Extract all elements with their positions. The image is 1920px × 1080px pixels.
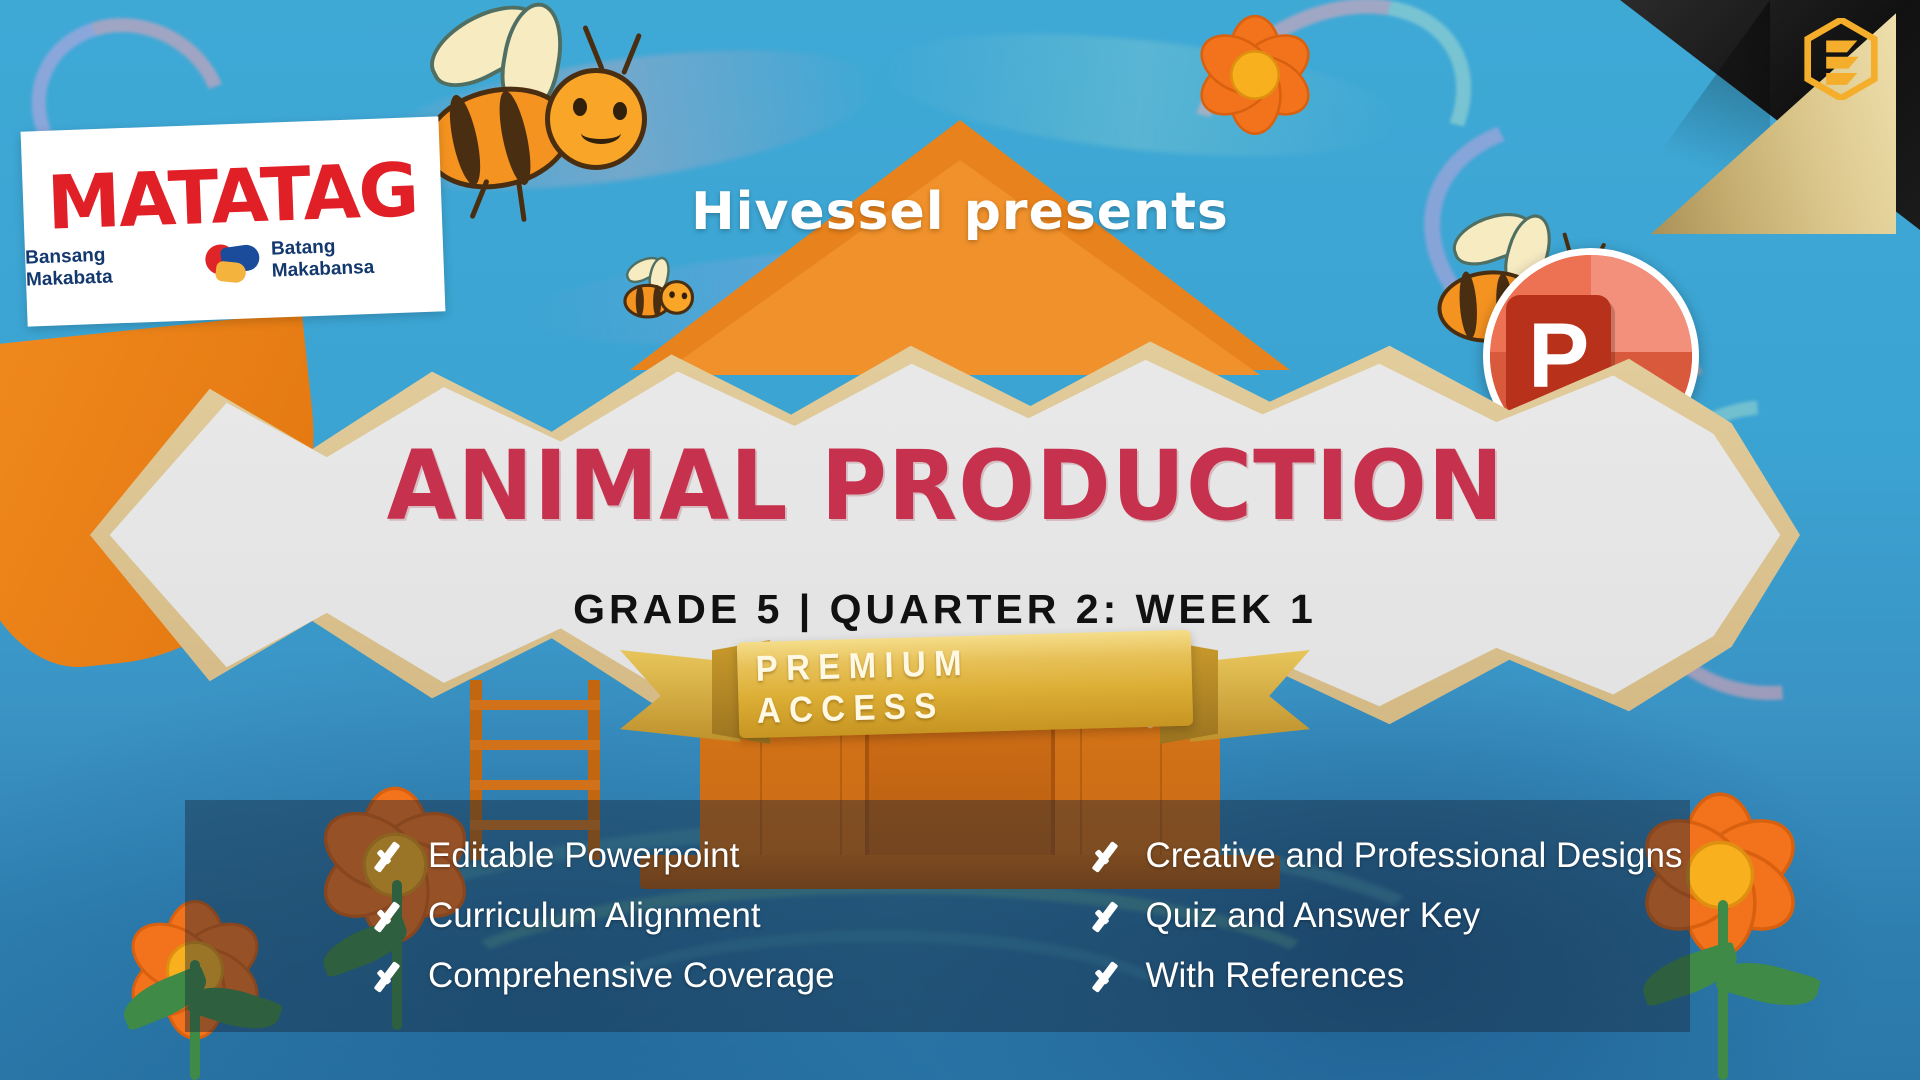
slide-canvas: MATATAG Bansang Makabata Batang Makabans… [0, 0, 1920, 1080]
clasped-hands-icon [203, 240, 266, 282]
ribbon-label: PREMIUM ACCESS [755, 636, 1175, 732]
feature-label: Quiz and Answer Key [1146, 896, 1481, 936]
presents-text: Hivessel presents [0, 182, 1920, 242]
bee-icon [415, 10, 645, 210]
feature-item: Creative and Professional Designs [1088, 834, 1691, 878]
feature-item: Comprehensive Coverage [370, 954, 973, 998]
feature-label: With References [1146, 956, 1405, 996]
feature-item: Editable Powerpoint [370, 834, 973, 878]
features-right-column: Creative and Professional Designs Quiz a… [973, 800, 1691, 1032]
check-icon [1088, 894, 1132, 938]
features-panel: Editable Powerpoint Curriculum Alignment… [185, 800, 1690, 1032]
feature-label: Comprehensive Coverage [428, 956, 835, 996]
check-icon [370, 954, 414, 998]
hivessel-hexagon-logo [1804, 18, 1878, 100]
feature-item: With References [1088, 954, 1691, 998]
check-icon [370, 894, 414, 938]
feature-label: Editable Powerpoint [428, 836, 739, 876]
feature-label: Creative and Professional Designs [1146, 836, 1683, 876]
premium-access-ribbon: PREMIUM ACCESS [620, 632, 1310, 762]
feature-label: Curriculum Alignment [428, 896, 761, 936]
check-icon [370, 834, 414, 878]
bee-icon [621, 259, 689, 321]
feature-item: Quiz and Answer Key [1088, 894, 1691, 938]
check-icon [1088, 834, 1132, 878]
page-title: ANIMAL PRODUCTION [386, 438, 1504, 534]
features-left-column: Editable Powerpoint Curriculum Alignment… [185, 800, 973, 1032]
matatag-tagline-left: Bansang Makabata [25, 241, 199, 291]
check-icon [1088, 954, 1132, 998]
feature-item: Curriculum Alignment [370, 894, 973, 938]
page-subtitle: GRADE 5 | QUARTER 2: WEEK 1 [573, 586, 1317, 633]
flower-icon [1199, 19, 1311, 131]
